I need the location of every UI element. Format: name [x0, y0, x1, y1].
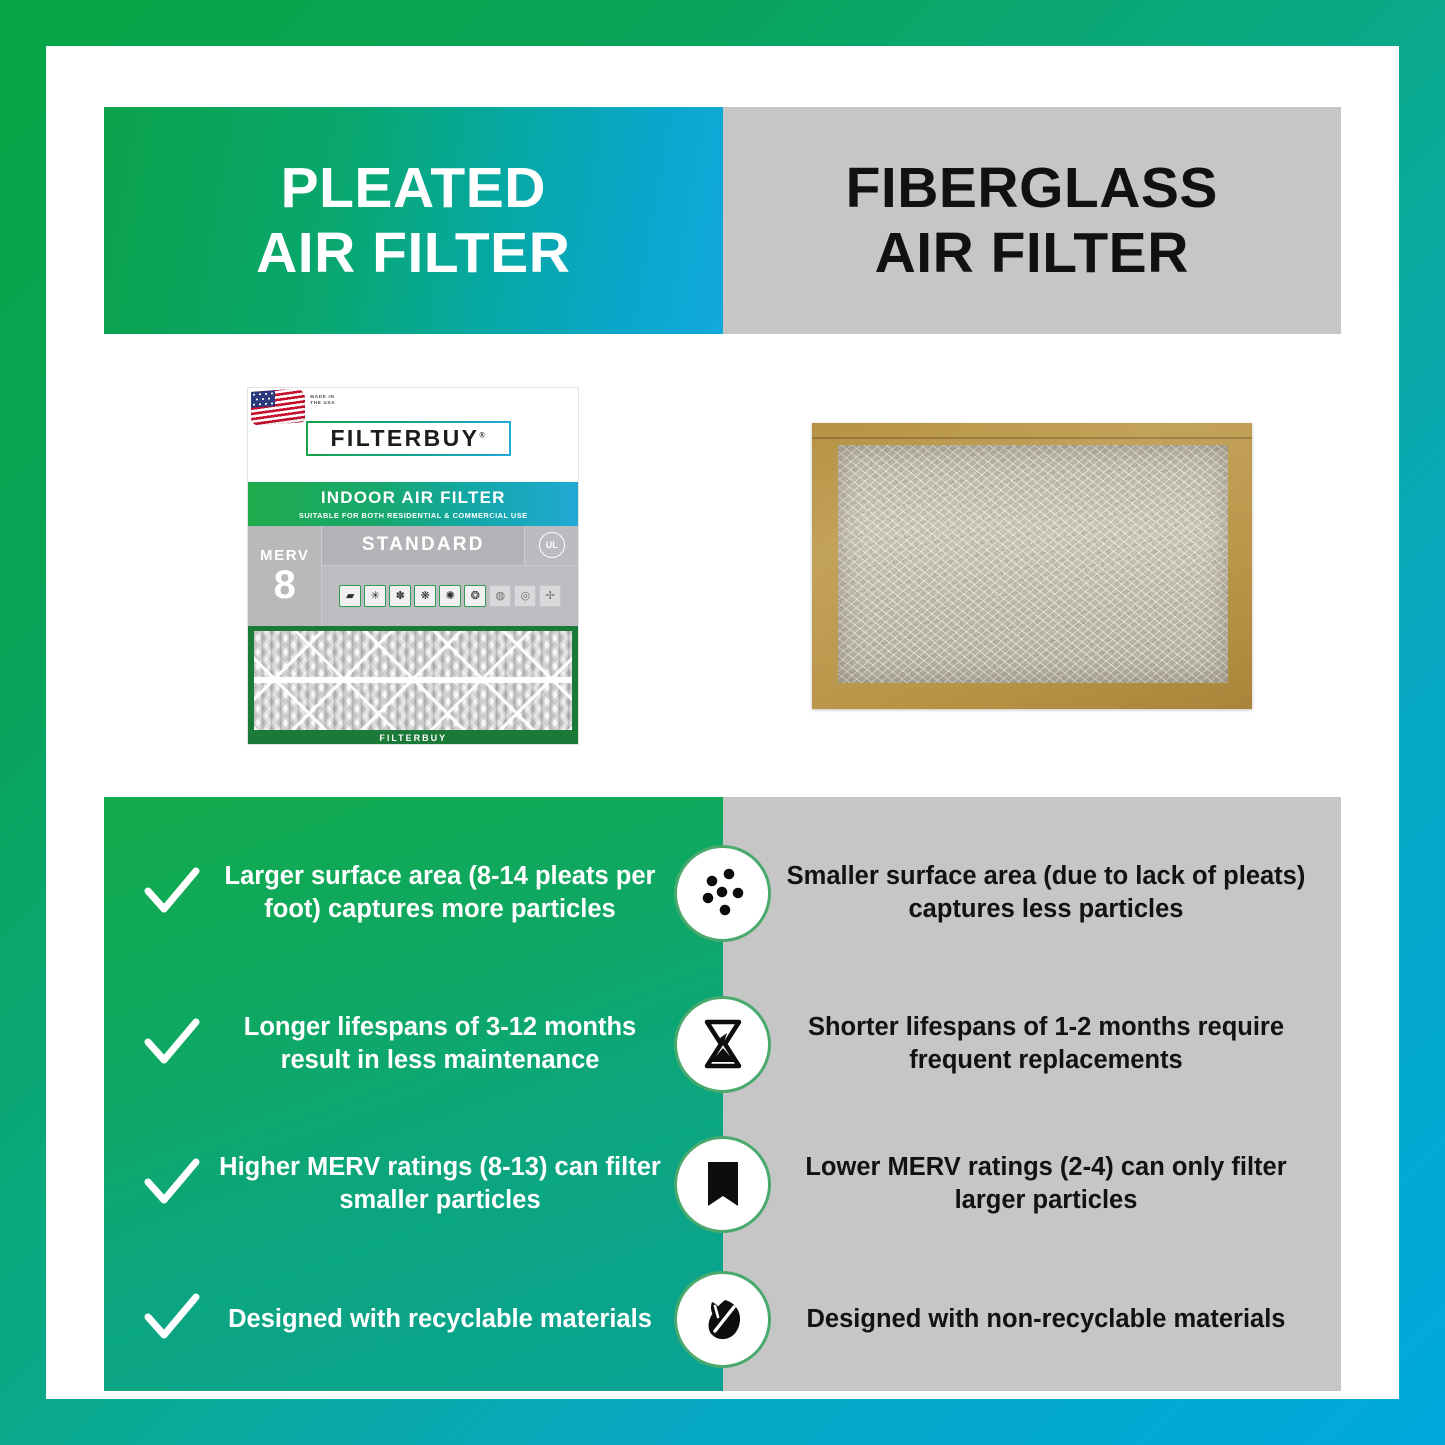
merv-label: MERV [260, 547, 309, 564]
row-2-right-cell: Shorter lifespans of 1-2 months require … [781, 1011, 1341, 1076]
infographic-outer-frame: PLEATED AIR FILTER FIBERGLASS AIR FILTER [0, 0, 1445, 1445]
dust-mite-icon: ✺ [439, 585, 461, 607]
grade-label: STANDARD [322, 526, 524, 565]
bacteria-icon: ◎ [514, 585, 536, 607]
smoke-icon: ◍ [489, 585, 511, 607]
made-in-line2: THE USA [310, 400, 335, 407]
row-4-left-text: Designed with recyclable materials [216, 1303, 664, 1336]
dust-icon: ▰ [339, 585, 361, 607]
filter-pleats [254, 631, 572, 730]
made-in-usa-label: MADE IN THE USA [310, 394, 335, 408]
row-4-icon-slot [664, 1271, 781, 1368]
header-fiberglass: FIBERGLASS AIR FILTER [723, 107, 1342, 334]
merv-value: 8 [274, 566, 296, 604]
pet-dander-icon: ❂ [464, 585, 486, 607]
fiberglass-filter-image [812, 423, 1252, 709]
mold-icon: ✽ [389, 585, 411, 607]
row-3-left-text: Higher MERV ratings (8-13) can filter sm… [216, 1151, 664, 1216]
brand-registered-mark: ® [479, 432, 487, 439]
row-1-icon-slot [664, 845, 781, 942]
product-image-band: MADE IN THE USA FILTERBUY® INDOOR AIR FI… [104, 334, 1341, 797]
box-footer-brand: FILTERBUY [248, 730, 578, 745]
box-banner-subtitle: SUITABLE FOR BOTH RESIDENTIAL & COMMERCI… [299, 511, 528, 520]
box-banner-title: INDOOR AIR FILTER [321, 488, 506, 508]
checkmark-icon [142, 1154, 202, 1214]
header-fiberglass-line1: FIBERGLASS [846, 156, 1218, 221]
comparison-row-2: Longer lifespans of 3-12 months result i… [104, 977, 1341, 1111]
row-4-left-cell: Designed with recyclable materials [104, 1289, 664, 1349]
particles-icon [674, 845, 771, 942]
brand-name: FILTERBUY® [330, 425, 487, 452]
row-1-right-text: Smaller surface area (due to lack of ple… [781, 860, 1311, 925]
infographic-canvas: PLEATED AIR FILTER FIBERGLASS AIR FILTER [46, 46, 1399, 1399]
ul-seal-icon: UL [539, 532, 565, 558]
made-in-line1: MADE IN [310, 394, 335, 401]
comparison-rows: Larger surface area (8-14 pleats per foo… [104, 797, 1341, 1391]
row-1-right-cell: Smaller surface area (due to lack of ple… [781, 860, 1341, 925]
leaf-icon [674, 1271, 771, 1368]
checkmark-icon [142, 1289, 202, 1349]
bookmark-icon [674, 1136, 771, 1233]
row-3-icon-slot [664, 1136, 781, 1233]
brand-logo-frame: FILTERBUY® [306, 421, 511, 456]
row-4-right-cell: Designed with non-recyclable materials [781, 1303, 1341, 1336]
virus-icon: ✢ [539, 585, 561, 607]
lint-icon: ✳ [364, 585, 386, 607]
header-fiberglass-text: FIBERGLASS AIR FILTER [846, 156, 1218, 286]
row-3-left-cell: Higher MERV ratings (8-13) can filter sm… [104, 1151, 664, 1216]
box-top-section: MADE IN THE USA FILTERBUY® [248, 388, 578, 482]
hourglass-icon [674, 996, 771, 1093]
row-1-left-text: Larger surface area (8-14 pleats per foo… [216, 860, 664, 925]
row-2-left-cell: Longer lifespans of 3-12 months result i… [104, 1011, 664, 1076]
us-flag-icon [251, 388, 305, 426]
fiberglass-product-cell [723, 334, 1342, 797]
row-3-right-cell: Lower MERV ratings (2-4) can only filter… [781, 1151, 1341, 1216]
fiberglass-media-texture [838, 445, 1228, 683]
brand-word: FILTERBUY [330, 425, 479, 451]
row-2-left-text: Longer lifespans of 3-12 months result i… [216, 1011, 664, 1076]
pollen-icon: ❋ [414, 585, 436, 607]
grade-row: STANDARD UL [322, 526, 578, 566]
filterbuy-box-image: MADE IN THE USA FILTERBUY® INDOOR AIR FI… [247, 387, 579, 745]
filter-center-bar [254, 677, 572, 683]
checkmark-icon [142, 863, 202, 923]
row-4-right-text: Designed with non-recyclable materials [807, 1303, 1286, 1336]
row-1-left-cell: Larger surface area (8-14 pleats per foo… [104, 860, 664, 925]
row-3-right-text: Lower MERV ratings (2-4) can only filter… [781, 1151, 1311, 1216]
box-spec-section: MERV 8 STANDARD UL ▰ [248, 526, 578, 626]
checkmark-icon [142, 1014, 202, 1074]
row-2-icon-slot [664, 996, 781, 1093]
comparison-row-1: Larger surface area (8-14 pleats per foo… [104, 819, 1341, 967]
pleated-product-cell: MADE IN THE USA FILTERBUY® INDOOR AIR FI… [104, 334, 723, 797]
row-2-right-text: Shorter lifespans of 1-2 months require … [781, 1011, 1311, 1076]
merv-block: MERV 8 [248, 526, 322, 626]
header-pleated-line2: AIR FILTER [256, 221, 570, 286]
pleated-filter-artwork: FILTERBUY [248, 626, 578, 745]
header-pleated: PLEATED AIR FILTER [104, 107, 723, 334]
comparison-headers: PLEATED AIR FILTER FIBERGLASS AIR FILTER [104, 107, 1341, 334]
capability-icon-row: ▰ ✳ ✽ ❋ ✺ ❂ ◍ ◎ ✢ [322, 566, 578, 626]
comparison-row-4: Designed with recyclable materials [104, 1257, 1341, 1381]
header-fiberglass-line2: AIR FILTER [846, 221, 1218, 286]
box-spec-right: STANDARD UL ▰ ✳ ✽ ❋ ✺ [322, 526, 578, 626]
header-pleated-line1: PLEATED [256, 156, 570, 221]
comparison-panel: Larger surface area (8-14 pleats per foo… [104, 797, 1341, 1391]
ul-listed-block: UL [524, 526, 578, 565]
comparison-row-3: Higher MERV ratings (8-13) can filter sm… [104, 1117, 1341, 1251]
box-banner: INDOOR AIR FILTER SUITABLE FOR BOTH RESI… [248, 482, 578, 526]
header-pleated-text: PLEATED AIR FILTER [256, 156, 570, 286]
